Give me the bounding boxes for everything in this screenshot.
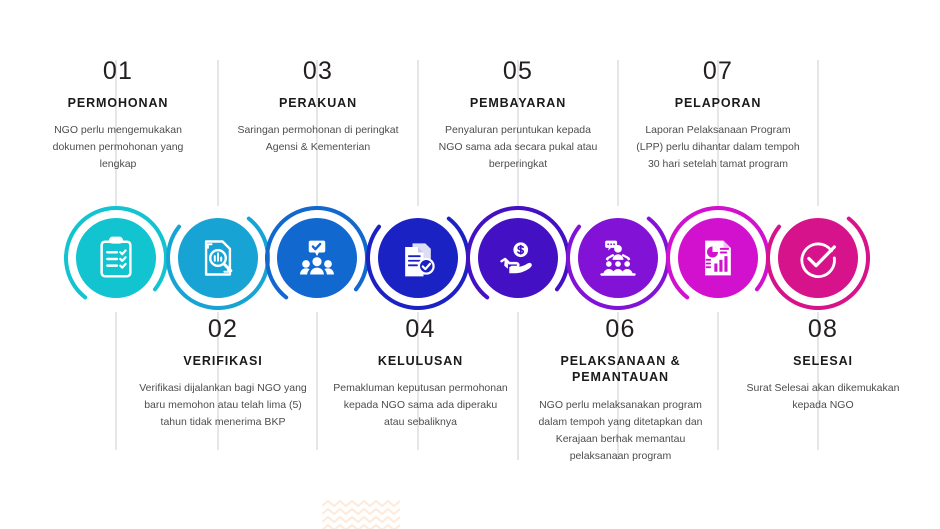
step-number-2: 02 (133, 316, 313, 344)
step-text-1: 01 PERMOHONAN NGO perlu mengemukakan dok… (33, 58, 203, 173)
step-title-4: KELULUSAN (333, 353, 508, 370)
icon-disc-7 (678, 218, 758, 298)
approved-documents-icon (396, 236, 440, 280)
step-number-8: 08 (733, 316, 913, 344)
step-desc-6: NGO perlu melaksanakan program dalam tem… (528, 397, 713, 465)
icon-disc-1 (76, 218, 156, 298)
step-desc-4: Pemakluman keputusan permohonan kepada N… (333, 380, 508, 431)
step-text-7: 07 PELAPORAN Laporan Pelaksanaan Program… (633, 58, 803, 173)
step-desc-7: Laporan Pelaksanaan Program (LPP) perlu … (633, 122, 803, 173)
step-text-5: 05 PEMBAYARAN Penyaluran peruntukan kepa… (433, 58, 603, 173)
step-desc-3: Saringan permohonan di peringkat Agensi … (233, 122, 403, 156)
step-desc-8: Surat Selesai akan dikemukakan kepada NG… (733, 380, 913, 414)
step-text-3: 03 PERAKUAN Saringan permohonan di perin… (233, 58, 403, 156)
step-node-4[interactable] (366, 206, 470, 310)
step-text-8: 08 SELESAI Surat Selesai akan dikemukaka… (733, 316, 913, 414)
step-number-1: 01 (33, 58, 203, 86)
step-desc-2: Verifikasi dijalankan bagi NGO yang baru… (133, 380, 313, 431)
process-flow-infographic: 01 PERMOHONAN NGO perlu mengemukakan dok… (0, 0, 940, 529)
step-title-6: PELAKSANAAN & PEMANTAUAN (528, 353, 713, 387)
step-title-1: PERMOHONAN (33, 95, 203, 112)
document-magnifier-chart-icon (196, 236, 240, 280)
step-node-3[interactable] (265, 206, 369, 310)
step-node-5[interactable] (466, 206, 570, 310)
step-title-7: PELAPORAN (633, 95, 803, 112)
icon-disc-8 (778, 218, 858, 298)
step-desc-1: NGO perlu mengemukakan dokumen permohona… (33, 122, 203, 173)
icon-disc-4 (378, 218, 458, 298)
presentation-audience-icon (596, 236, 640, 280)
step-number-7: 07 (633, 58, 803, 86)
step-text-6: 06 PELAKSANAAN & PEMANTAUAN NGO perlu me… (528, 316, 713, 465)
step-text-4: 04 KELULUSAN Pemakluman keputusan permoh… (333, 316, 508, 431)
step-number-4: 04 (333, 316, 508, 344)
icon-disc-5 (478, 218, 558, 298)
step-title-5: PEMBAYARAN (433, 95, 603, 112)
step-circles-row (0, 206, 940, 316)
icon-disc-3 (277, 218, 357, 298)
step-number-6: 06 (528, 316, 713, 344)
hand-holding-money-icon (496, 236, 540, 280)
step-node-2[interactable] (166, 206, 270, 310)
step-node-1[interactable] (64, 206, 168, 310)
icon-disc-2 (178, 218, 258, 298)
step-desc-5: Penyaluran peruntukan kepada NGO sama ad… (433, 122, 603, 173)
step-number-3: 03 (233, 58, 403, 86)
step-node-6[interactable] (566, 206, 670, 310)
step-title-8: SELESAI (733, 353, 913, 370)
step-title-3: PERAKUAN (233, 95, 403, 112)
step-title-2: VERIFIKASI (133, 353, 313, 370)
check-circle-icon (795, 235, 841, 281)
step-node-8[interactable] (766, 206, 870, 310)
step-node-7[interactable] (666, 206, 770, 310)
group-approval-icon (295, 236, 339, 280)
report-chart-icon (696, 236, 740, 280)
icon-disc-6 (578, 218, 658, 298)
step-text-2: 02 VERIFIKASI Verifikasi dijalankan bagi… (133, 316, 313, 431)
clipboard-checklist-icon (93, 235, 139, 281)
step-number-5: 05 (433, 58, 603, 86)
